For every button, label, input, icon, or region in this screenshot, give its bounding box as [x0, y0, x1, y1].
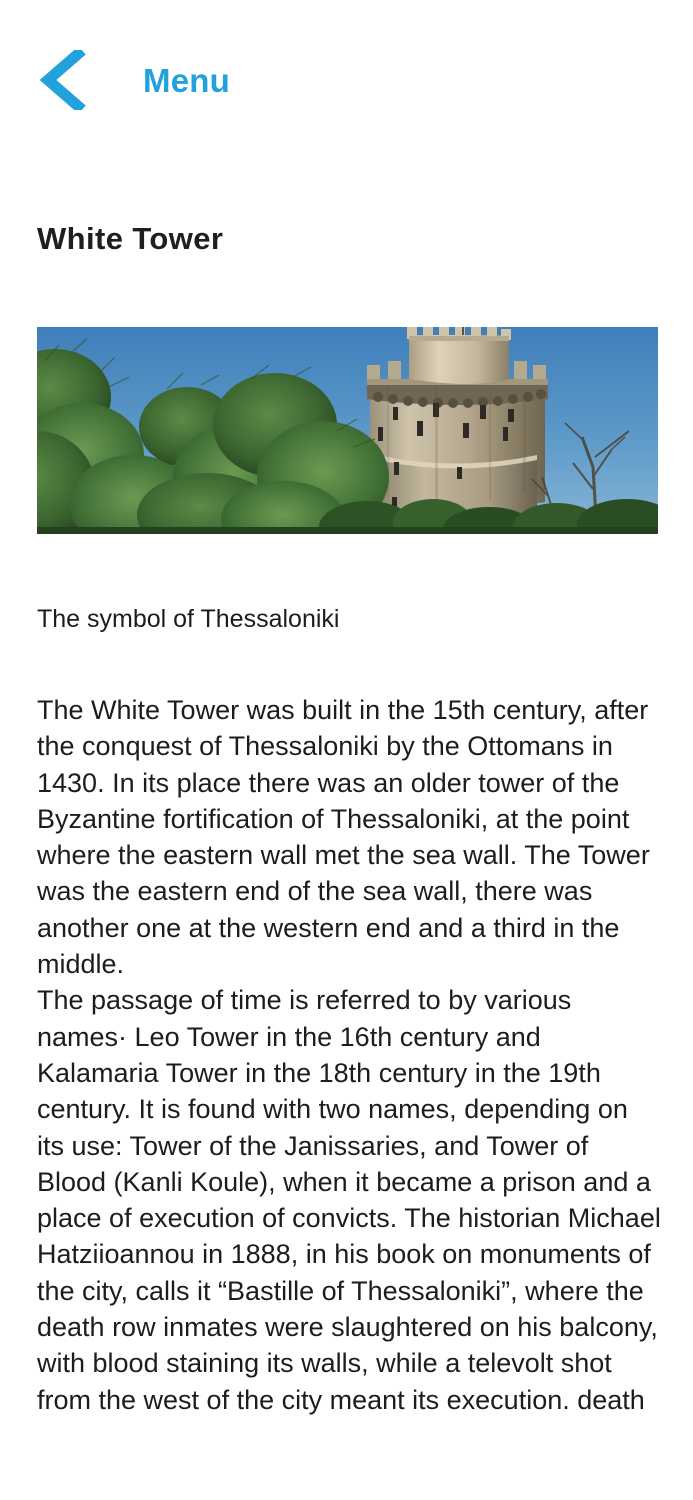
article-page: Menu White Tower [0, 0, 693, 1500]
hero-image [37, 327, 658, 534]
article-subtitle: The symbol of Thessaloniki [37, 604, 657, 635]
article-body: The White Tower was built in the 15th ce… [37, 692, 662, 1418]
white-tower-photo [37, 327, 658, 534]
navigation-bar: Menu [0, 0, 693, 160]
page-title: White Tower [37, 222, 223, 256]
paragraph: The White Tower was built in the 15th ce… [37, 692, 662, 982]
chevron-left-icon [38, 50, 86, 110]
menu-link[interactable]: Menu [143, 64, 230, 97]
paragraph: The passage of time is referred to by va… [37, 982, 662, 1418]
back-button[interactable] [24, 42, 100, 118]
